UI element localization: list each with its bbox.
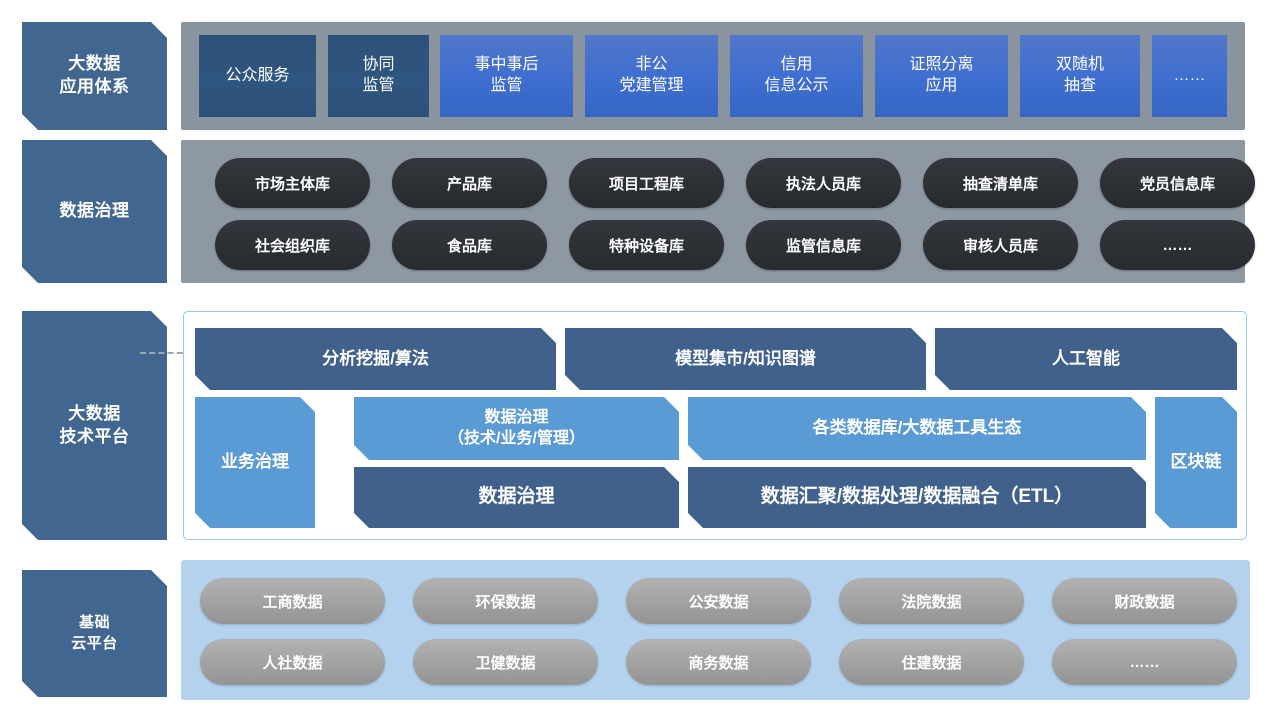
app-tile-double-random-inspection[interactable]: 双随机 抽查 bbox=[1020, 35, 1140, 117]
application-panel: 公众服务 协同 监管 事中事后 监管 非公 党建管理 信用 信息公示 bbox=[181, 22, 1245, 130]
side-label-platform-line1: 大数据 bbox=[60, 403, 130, 426]
platform-box-databases-tool-ecosystem[interactable]: 各类数据库/大数据工具生态 bbox=[688, 397, 1146, 460]
governance-pill-inspection-list[interactable]: 抽查清单库 bbox=[923, 158, 1078, 208]
app-tile-collaborative-supervision-line1: 协同 bbox=[362, 55, 394, 76]
governance-pill-supervision-info-label: 监管信息库 bbox=[786, 235, 861, 256]
platform-box-data-governance-scope-line2: （技术/业务/管理） bbox=[448, 429, 585, 450]
governance-pill-product-label: 产品库 bbox=[447, 173, 492, 194]
platform-box-databases-tool-ecosystem-label: 各类数据库/大数据工具生态 bbox=[813, 417, 1022, 439]
app-tile-credit-disclosure-line2: 信息公示 bbox=[764, 76, 828, 97]
governance-pill-market-entity[interactable]: 市场主体库 bbox=[215, 158, 370, 208]
cloud-pill-court-data-label: 法院数据 bbox=[901, 591, 961, 612]
app-tile-license-separation-line2: 应用 bbox=[909, 76, 973, 97]
platform-box-data-governance-scope-line1: 数据治理 bbox=[448, 408, 585, 429]
side-label-platform: 大数据 技术平台 bbox=[22, 311, 167, 540]
platform-box-etl[interactable]: 数据汇聚/数据处理/数据融合（ETL） bbox=[688, 467, 1146, 528]
app-tile-license-separation[interactable]: 证照分离 应用 bbox=[875, 35, 1008, 117]
cloud-panel: 工商数据 环保数据 公安数据 法院数据 财政数据 人社数据 卫健数据 商务数据 … bbox=[181, 560, 1250, 700]
cloud-pill-environment-data[interactable]: 环保数据 bbox=[413, 578, 598, 624]
architecture-diagram: 大数据 应用体系 公众服务 协同 监管 事中事后 监管 非公 党建管理 bbox=[0, 0, 1280, 720]
app-tile-credit-disclosure-line1: 信用 bbox=[764, 55, 828, 76]
side-label-platform-line2: 技术平台 bbox=[60, 426, 130, 449]
governance-pill-project-engineering[interactable]: 项目工程库 bbox=[569, 158, 724, 208]
app-tile-nonpublic-party-building-line2: 党建管理 bbox=[619, 76, 683, 97]
governance-pill-social-organization-label: 社会组织库 bbox=[255, 235, 330, 256]
side-label-application-line2: 应用体系 bbox=[60, 76, 130, 99]
side-label-cloud-line1: 基础 bbox=[71, 613, 118, 633]
governance-pill-more-label: …… bbox=[1163, 237, 1193, 254]
app-tile-license-separation-line1: 证照分离 bbox=[909, 55, 973, 76]
governance-pill-special-equipment-label: 特种设备库 bbox=[609, 235, 684, 256]
platform-box-model-market-knowledge-graph-label: 模型集市/知识图谱 bbox=[675, 348, 816, 370]
platform-box-artificial-intelligence[interactable]: 人工智能 bbox=[935, 328, 1237, 390]
platform-box-business-governance[interactable]: 业务治理 bbox=[195, 397, 315, 528]
app-tile-during-after-supervision-line2: 监管 bbox=[474, 76, 538, 97]
platform-box-etl-label: 数据汇聚/数据处理/数据融合（ETL） bbox=[761, 485, 1073, 510]
app-tile-credit-disclosure[interactable]: 信用 信息公示 bbox=[730, 35, 863, 117]
cloud-pill-public-security-data[interactable]: 公安数据 bbox=[626, 578, 811, 624]
side-label-governance: 数据治理 bbox=[22, 140, 167, 283]
platform-box-analysis-mining-algorithm-label: 分析挖掘/算法 bbox=[322, 348, 429, 370]
cloud-pill-more[interactable]: …… bbox=[1052, 639, 1237, 685]
app-tile-during-after-supervision[interactable]: 事中事后 监管 bbox=[440, 35, 573, 117]
cloud-pill-human-resources-data-label: 人社数据 bbox=[262, 652, 322, 673]
platform-box-artificial-intelligence-label: 人工智能 bbox=[1052, 348, 1120, 370]
platform-box-blockchain-label: 区块链 bbox=[1171, 451, 1222, 473]
app-tile-public-service-label: 公众服务 bbox=[225, 66, 289, 87]
cloud-pill-court-data[interactable]: 法院数据 bbox=[839, 578, 1024, 624]
cloud-pill-commerce-data-label: 商务数据 bbox=[688, 652, 748, 673]
platform-box-blockchain[interactable]: 区块链 bbox=[1155, 397, 1237, 528]
app-tile-nonpublic-party-building[interactable]: 非公 党建管理 bbox=[585, 35, 718, 117]
cloud-pill-human-resources-data[interactable]: 人社数据 bbox=[200, 639, 385, 685]
app-tile-collaborative-supervision-line2: 监管 bbox=[362, 76, 394, 97]
side-label-governance-line1: 数据治理 bbox=[60, 200, 130, 223]
cloud-pill-health-data-label: 卫健数据 bbox=[475, 652, 535, 673]
cloud-pill-health-data[interactable]: 卫健数据 bbox=[413, 639, 598, 685]
governance-pill-law-enforcement-staff-label: 执法人员库 bbox=[786, 173, 861, 194]
cloud-pill-more-label: …… bbox=[1130, 654, 1160, 671]
app-tile-more[interactable]: …… bbox=[1152, 35, 1227, 117]
governance-pill-social-organization[interactable]: 社会组织库 bbox=[215, 220, 370, 270]
governance-pill-inspection-list-label: 抽查清单库 bbox=[963, 173, 1038, 194]
governance-pill-product[interactable]: 产品库 bbox=[392, 158, 547, 208]
cloud-pill-environment-data-label: 环保数据 bbox=[475, 591, 535, 612]
side-label-cloud: 基础 云平台 bbox=[22, 570, 167, 697]
app-tile-collaborative-supervision[interactable]: 协同 监管 bbox=[328, 35, 429, 117]
governance-pill-more[interactable]: …… bbox=[1100, 220, 1255, 270]
governance-pill-audit-staff[interactable]: 审核人员库 bbox=[923, 220, 1078, 270]
governance-pill-special-equipment[interactable]: 特种设备库 bbox=[569, 220, 724, 270]
platform-box-data-governance[interactable]: 数据治理 bbox=[354, 467, 679, 528]
side-label-application: 大数据 应用体系 bbox=[22, 22, 167, 130]
app-tile-public-service[interactable]: 公众服务 bbox=[199, 35, 316, 117]
governance-panel: 市场主体库 产品库 项目工程库 执法人员库 抽查清单库 党员信息库 社会组织库 … bbox=[181, 140, 1245, 283]
cloud-pill-industry-commerce-data[interactable]: 工商数据 bbox=[200, 578, 385, 624]
governance-pill-food-label: 食品库 bbox=[447, 235, 492, 256]
governance-pill-market-entity-label: 市场主体库 bbox=[255, 173, 330, 194]
side-label-application-line1: 大数据 bbox=[60, 53, 130, 76]
governance-pill-audit-staff-label: 审核人员库 bbox=[963, 235, 1038, 256]
app-tile-double-random-inspection-line2: 抽查 bbox=[1056, 76, 1104, 97]
cloud-pill-housing-construction-data-label: 住建数据 bbox=[901, 652, 961, 673]
platform-box-analysis-mining-algorithm[interactable]: 分析挖掘/算法 bbox=[195, 328, 556, 390]
governance-pill-project-engineering-label: 项目工程库 bbox=[609, 173, 684, 194]
platform-box-model-market-knowledge-graph[interactable]: 模型集市/知识图谱 bbox=[565, 328, 926, 390]
governance-pill-supervision-info[interactable]: 监管信息库 bbox=[746, 220, 901, 270]
cloud-pill-industry-commerce-data-label: 工商数据 bbox=[262, 591, 322, 612]
governance-pill-law-enforcement-staff[interactable]: 执法人员库 bbox=[746, 158, 901, 208]
governance-pill-food[interactable]: 食品库 bbox=[392, 220, 547, 270]
governance-pill-party-member-info[interactable]: 党员信息库 bbox=[1100, 158, 1255, 208]
cloud-pill-finance-data-label: 财政数据 bbox=[1114, 591, 1174, 612]
side-label-cloud-line2: 云平台 bbox=[71, 634, 118, 654]
app-tile-more-label: …… bbox=[1174, 66, 1206, 87]
cloud-pill-commerce-data[interactable]: 商务数据 bbox=[626, 639, 811, 685]
cloud-pill-finance-data[interactable]: 财政数据 bbox=[1052, 578, 1237, 624]
platform-box-data-governance-scope[interactable]: 数据治理 （技术/业务/管理） bbox=[354, 397, 679, 460]
app-tile-during-after-supervision-line1: 事中事后 bbox=[474, 55, 538, 76]
platform-box-data-governance-label: 数据治理 bbox=[478, 485, 554, 510]
cloud-pill-public-security-data-label: 公安数据 bbox=[688, 591, 748, 612]
platform-panel: 分析挖掘/算法 模型集市/知识图谱 人工智能 业务治理 数据治理 （技术/业务/… bbox=[183, 311, 1247, 540]
app-tile-nonpublic-party-building-line1: 非公 bbox=[619, 55, 683, 76]
app-tile-double-random-inspection-line1: 双随机 bbox=[1056, 55, 1104, 76]
cloud-pill-housing-construction-data[interactable]: 住建数据 bbox=[839, 639, 1024, 685]
governance-pill-party-member-info-label: 党员信息库 bbox=[1140, 173, 1215, 194]
platform-box-business-governance-label: 业务治理 bbox=[221, 451, 289, 473]
